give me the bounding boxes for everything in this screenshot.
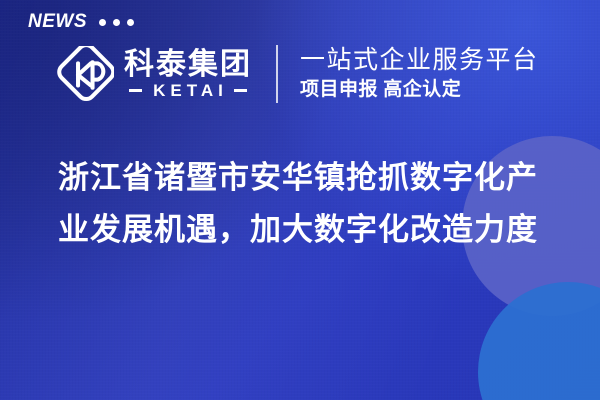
vertical-divider bbox=[276, 45, 278, 103]
eyebrow-dots bbox=[99, 19, 134, 26]
brand-lockup: 科泰集团 KETAI bbox=[124, 49, 252, 100]
news-banner: NEWS bbox=[0, 0, 600, 400]
brand-name-en-row: KETAI bbox=[129, 82, 247, 99]
slogan-main: 一站式企业服务平台 bbox=[300, 46, 539, 74]
headline-line-2: 业发展机遇，加大数字化改造力度 bbox=[58, 204, 558, 256]
eyebrow-label: NEWS bbox=[28, 12, 87, 31]
eyebrow: NEWS bbox=[28, 12, 134, 31]
slogan-sub: 项目申报 高企认定 bbox=[300, 79, 539, 102]
rule-right bbox=[234, 89, 247, 92]
brand-name-cn: 科泰集团 bbox=[124, 49, 252, 81]
dot-icon bbox=[99, 19, 106, 26]
headline-line-1: 浙江省诸暨市安华镇抢抓数字化产 bbox=[58, 152, 558, 204]
slogan-block: 一站式企业服务平台 项目申报 高企认定 bbox=[300, 46, 539, 102]
headline: 浙江省诸暨市安华镇抢抓数字化产 业发展机遇，加大数字化改造力度 bbox=[58, 152, 558, 256]
rule-left bbox=[129, 89, 142, 92]
dot-icon bbox=[113, 19, 120, 26]
ketai-logo-icon bbox=[56, 46, 114, 104]
brand-name-en: KETAI bbox=[148, 82, 228, 99]
brand-header: 科泰集团 KETAI 一站式企业服务平台 项目申报 高企认定 bbox=[56, 44, 539, 104]
dot-icon bbox=[127, 19, 134, 26]
